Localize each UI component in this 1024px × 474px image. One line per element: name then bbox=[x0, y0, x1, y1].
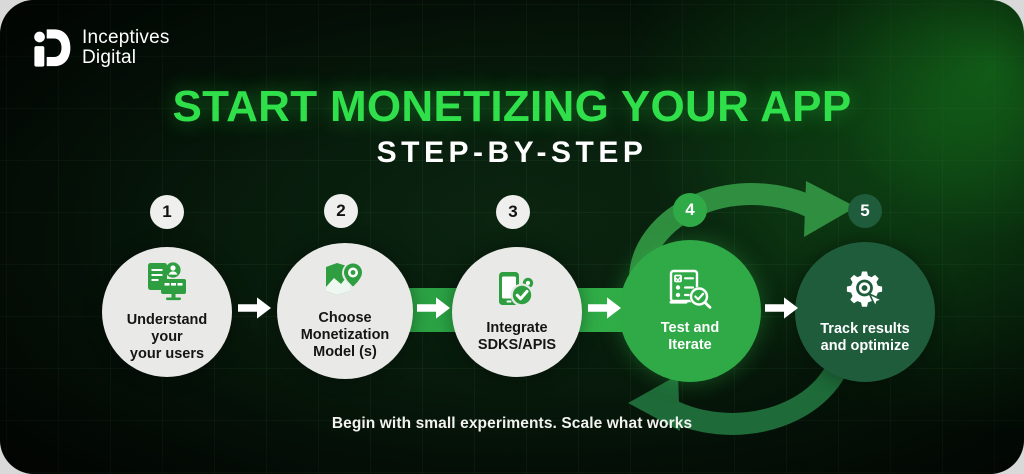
user-profile-document-monitor-icon bbox=[146, 261, 188, 306]
mobile-phone-checkmark-icon bbox=[497, 271, 537, 314]
id-monogram-logo-icon bbox=[30, 26, 72, 70]
step-node-1[interactable]: Understand your your users bbox=[102, 247, 232, 377]
brand-name-line1: Inceptives bbox=[82, 28, 170, 48]
checklist-magnifier-icon bbox=[668, 269, 712, 314]
step-badge-2: 2 bbox=[324, 194, 358, 228]
step-node-2-label: Choose Monetization Model (s) bbox=[293, 310, 398, 360]
step-node-3-label: Integrate SDKS/APIS bbox=[470, 320, 564, 354]
right-arrow-icon bbox=[765, 297, 799, 324]
step-node-5-label: Track results and optimize bbox=[812, 321, 917, 355]
page-title: START MONETIZING YOUR APP bbox=[0, 82, 1024, 132]
brand-name-line2: Digital bbox=[82, 48, 170, 68]
step-badge-3: 3 bbox=[496, 195, 530, 229]
step-badge-4: 4 bbox=[673, 193, 707, 227]
right-arrow-icon bbox=[417, 297, 451, 324]
step-node-1-label: Understand your your users bbox=[102, 312, 232, 362]
steps-flow: Understand your your users Choose Moneti… bbox=[0, 0, 1024, 474]
step-badge-5: 5 bbox=[848, 194, 882, 228]
right-arrow-icon bbox=[238, 297, 272, 324]
step-node-4[interactable]: Test and Iterate bbox=[619, 240, 761, 382]
step-node-2[interactable]: Choose Monetization Model (s) bbox=[277, 243, 413, 379]
step-node-5[interactable]: Track results and optimize bbox=[795, 242, 935, 382]
gear-cursor-icon bbox=[844, 270, 886, 315]
page-subtitle: STEP-BY-STEP bbox=[0, 136, 1024, 170]
infographic-canvas: Inceptives Digital START MONETIZING YOUR… bbox=[0, 0, 1024, 474]
step-badge-1: 1 bbox=[150, 195, 184, 229]
brand-logo[interactable]: Inceptives Digital bbox=[30, 26, 170, 70]
map-location-pin-icon bbox=[324, 261, 366, 304]
right-arrow-icon bbox=[588, 297, 622, 324]
footer-note: Begin with small experiments. Scale what… bbox=[0, 415, 1024, 433]
step-node-3[interactable]: Integrate SDKS/APIS bbox=[452, 247, 582, 377]
step-node-4-label: Test and Iterate bbox=[653, 320, 728, 354]
